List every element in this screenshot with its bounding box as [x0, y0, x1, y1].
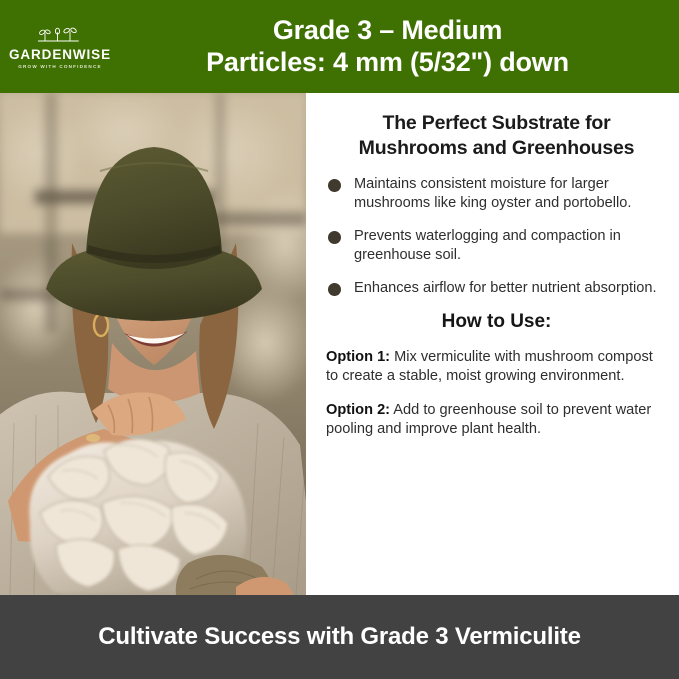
header-title-line-1: Grade 3 – Medium [120, 15, 655, 47]
option-1: Option 1: Mix vermiculite with mushroom … [326, 348, 667, 387]
benefits-list: Maintains consistent moisture for larger… [326, 175, 667, 298]
footer-tagline: Cultivate Success with Grade 3 Vermiculi… [98, 623, 580, 651]
bullet-dot-icon [328, 283, 341, 296]
benefit-text: Maintains consistent moisture for larger… [354, 175, 663, 214]
option-2-label: Option 2: [326, 402, 390, 418]
list-item: Prevents waterlogging and compaction in … [328, 227, 663, 266]
option-2: Option 2: Add to greenhouse soil to prev… [326, 401, 667, 440]
lifestyle-photo [0, 93, 306, 595]
brand-logo: GARDENWISE GROW WITH CONFIDENCE [0, 24, 120, 70]
header-title-line-2: Particles: 4 mm (5/32") down [120, 47, 655, 79]
bullet-dot-icon [328, 231, 341, 244]
how-to-use-heading: How to Use: [326, 311, 667, 333]
footer-bar: Cultivate Success with Grade 3 Vermiculi… [0, 595, 679, 679]
list-item: Enhances airflow for better nutrient abs… [328, 279, 663, 298]
panel-heading-line-1: The Perfect Substrate for [326, 111, 667, 136]
list-item: Maintains consistent moisture for larger… [328, 175, 663, 214]
panel-heading-line-2: Mushrooms and Greenhouses [326, 136, 667, 161]
brand-name: GARDENWISE [9, 48, 111, 62]
header-title: Grade 3 – Medium Particles: 4 mm (5/32")… [120, 15, 679, 79]
benefit-text: Enhances airflow for better nutrient abs… [354, 279, 657, 298]
brand-tagline: GROW WITH CONFIDENCE [18, 64, 101, 69]
bullet-dot-icon [328, 179, 341, 192]
product-infographic: GARDENWISE GROW WITH CONFIDENCE Grade 3 … [0, 0, 679, 679]
panel-heading: The Perfect Substrate for Mushrooms and … [326, 111, 667, 161]
option-1-label: Option 1: [326, 349, 390, 365]
header-bar: GARDENWISE GROW WITH CONFIDENCE Grade 3 … [0, 0, 679, 93]
benefit-text: Prevents waterlogging and compaction in … [354, 227, 663, 266]
sprouts-icon [34, 26, 86, 46]
content-panel: The Perfect Substrate for Mushrooms and … [306, 93, 679, 595]
photo-illustration [0, 93, 306, 595]
